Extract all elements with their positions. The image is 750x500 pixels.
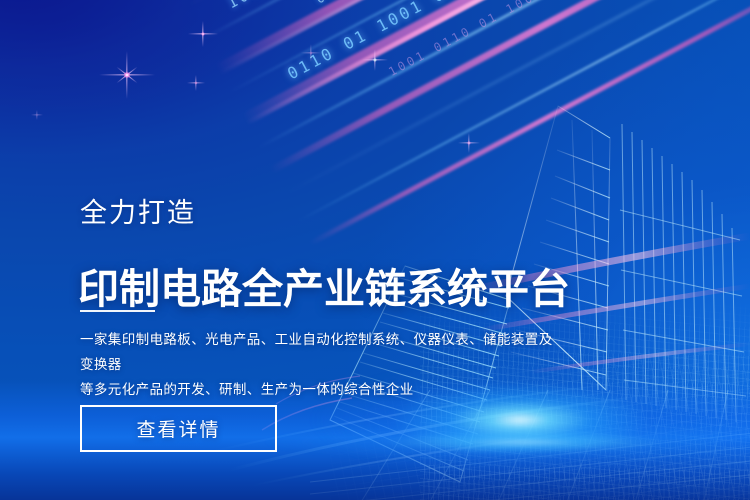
title-divider — [80, 310, 155, 312]
view-details-button[interactable]: 查看详情 — [80, 405, 277, 452]
description-line-2: 等多元化产品的开发、研制、生产为一体的综合性企业 — [80, 377, 560, 402]
description-line-1: 一家集印制电路板、光电产品、工业自动化控制系统、仪器仪表、储能装置及变换器 — [80, 327, 560, 377]
banner-description: 一家集印制电路板、光电产品、工业自动化控制系统、仪器仪表、储能装置及变换器 等多… — [80, 327, 560, 402]
banner-eyebrow: 全力打造 — [80, 196, 196, 230]
banner-headline: 印制电路全产业链系统平台 — [78, 265, 570, 313]
banner-content: 全力打造 印制电路全产业链系统平台 一家集印制电路板、光电产品、工业自动化控制系… — [0, 0, 750, 500]
hero-banner: 1001 01 1001 01 1001 01 1001 0110 01 01 … — [0, 0, 750, 500]
